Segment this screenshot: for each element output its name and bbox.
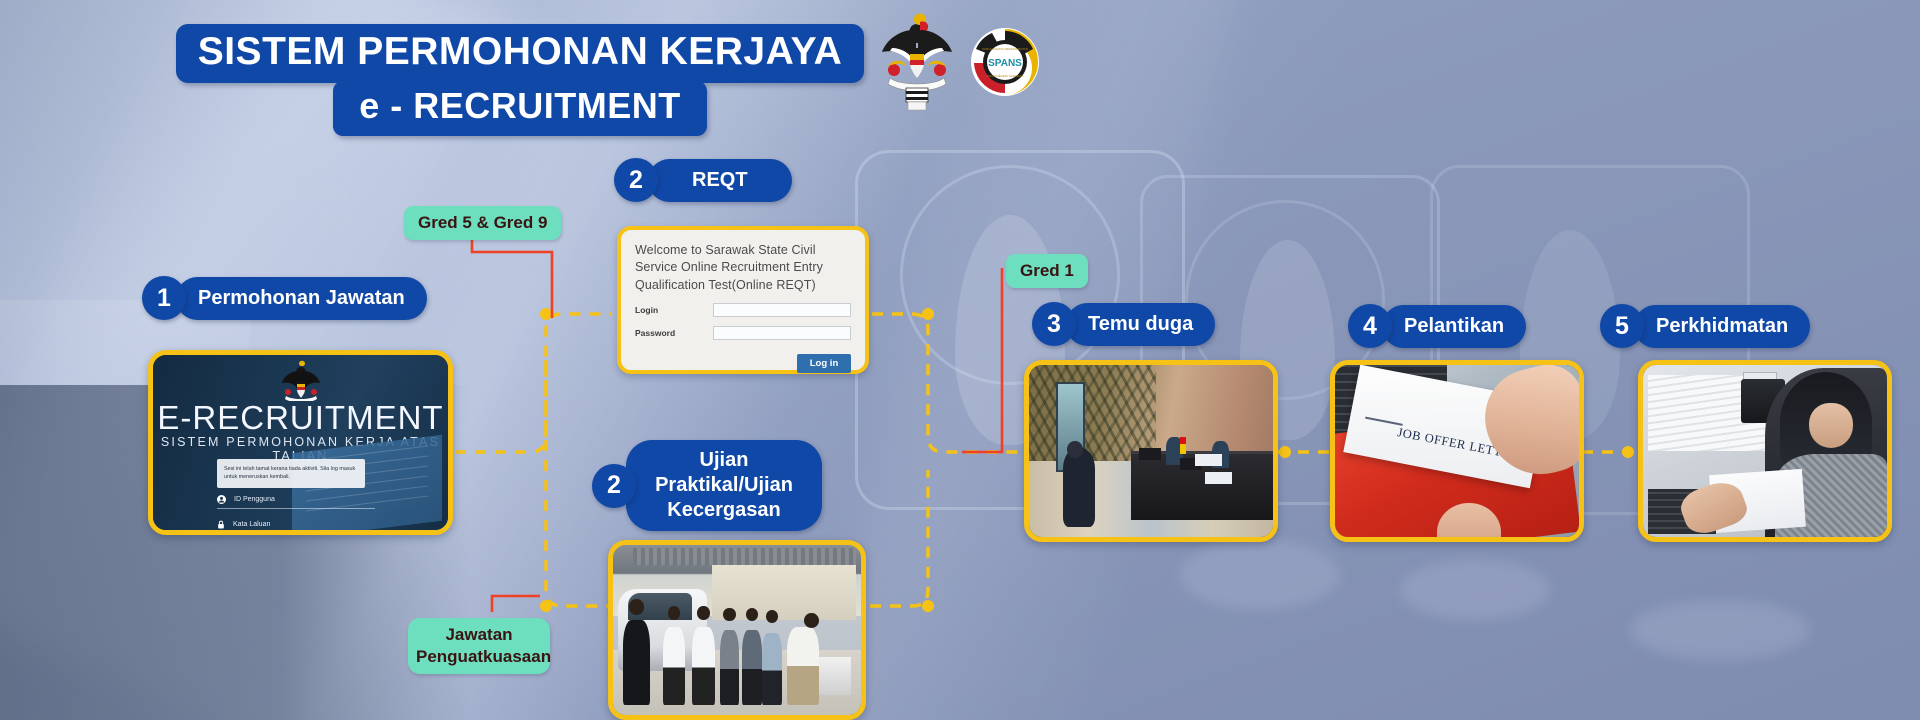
step-1-number: 1 [142,276,186,320]
step-5-label: Perkhidmatan [1634,305,1810,348]
reqt-login-button[interactable]: Log in [797,354,851,373]
title-line-2: e - RECRUITMENT [333,81,707,136]
practical-test-photo-card[interactable] [608,540,866,720]
svg-text:SURUHANJAYA PERKHIDMATAN: SURUHANJAYA PERKHIDMATAN [982,47,1028,51]
step-4-number: 4 [1348,304,1392,348]
title-line-1: SISTEM PERMOHONAN KERJAYA [176,24,865,83]
svg-text:AWAM NEGERI SARAWAK: AWAM NEGERI SARAWAK [986,74,1023,78]
step-2b-number: 2 [592,464,636,508]
background-blob [1630,600,1810,660]
background-blob [1180,540,1340,610]
step-3-label: Temu duga [1066,303,1215,346]
step-4-label: Pelantikan [1382,305,1526,348]
reqt-password-row: Password [635,326,851,340]
erecruitment-user-field[interactable]: ID Pengguna [217,495,375,509]
reqt-login-input[interactable] [713,303,851,317]
reqt-password-label: Password [635,328,713,338]
step-2-reqt[interactable]: 2 REQT [614,158,792,202]
tag-gred-5-9: Gred 5 & Gred 9 [404,206,561,240]
interview-photo-card[interactable] [1024,360,1278,542]
step-1-label: Permohonan Jawatan [176,277,427,320]
service-photo [1643,365,1887,537]
spans-logo-text: SPANS [988,58,1022,69]
tag-gred-1: Gred 1 [1006,254,1088,288]
offer-letter-photo-card[interactable]: JOB OFFER LETTER [1330,360,1584,542]
erecruitment-password-placeholder: Kata Laluan [233,521,270,528]
background-blob [1400,560,1550,620]
erecruitment-session-notice: Sesi ini telah tamat kerana tiada aktivi… [217,459,365,488]
step-5-number: 5 [1600,304,1644,348]
service-photo-card[interactable] [1638,360,1892,542]
logo-group: SPANS SURUHANJAYA PERKHIDMATAN AWAM NEGE… [880,8,1040,116]
interview-photo [1029,365,1273,537]
spans-logo-icon: SPANS SURUHANJAYA PERKHIDMATAN AWAM NEGE… [970,27,1040,97]
lock-icon [217,520,225,529]
reqt-login-panel[interactable]: Welcome to Sarawak State Civil Service O… [617,226,869,374]
tag-jawatan-penguatkuasaan: Jawatan Penguatkuasaan [408,618,550,674]
erecruitment-user-placeholder: ID Pengguna [234,496,275,503]
erecruitment-portal-card[interactable]: E-RECRUITMENT SISTEM PERMOHONAN KERJA AT… [148,350,453,535]
tag-line-1: Jawatan [416,624,542,646]
erecruitment-title: E-RECRUITMENT [153,399,448,437]
infographic-canvas: SISTEM PERMOHONAN KERJAYA e - RECRUITMEN… [0,0,1920,720]
sarawak-coat-of-arms-icon [880,8,954,116]
reqt-heading: Welcome to Sarawak State Civil Service O… [635,242,851,294]
page-title: SISTEM PERMOHONAN KERJAYA e - RECRUITMEN… [160,24,880,136]
offer-letter-photo: JOB OFFER LETTER [1335,365,1579,537]
step-2b-label: Ujian Praktikal/Ujian Kecergasan [626,440,822,531]
step-4-pelantikan[interactable]: 4 Pelantikan [1348,304,1526,348]
reqt-password-input[interactable] [713,326,851,340]
reqt-login-label: Login [635,305,713,315]
step-1-permohonan-jawatan[interactable]: 1 Permohonan Jawatan [142,276,427,320]
user-icon [217,495,226,504]
reqt-login-row: Login [635,303,851,317]
tag-line-2: Penguatkuasaan [416,646,542,668]
step-2-label: REQT [648,159,792,202]
step-2-ujian-praktikal[interactable]: 2 Ujian Praktikal/Ujian Kecergasan [592,440,822,531]
step-5-perkhidmatan[interactable]: 5 Perkhidmatan [1600,304,1810,348]
practical-test-photo [613,545,861,715]
reqt-footer: Log in [635,340,851,373]
erecruitment-screenshot: E-RECRUITMENT SISTEM PERMOHONAN KERJA AT… [153,355,448,530]
step-3-temu-duga[interactable]: 3 Temu duga [1032,302,1215,346]
sarawak-crest-small-icon [281,359,321,401]
step-3-number: 3 [1032,302,1076,346]
step-2-number: 2 [614,158,658,202]
erecruitment-password-field[interactable]: Kata Laluan [217,520,375,534]
